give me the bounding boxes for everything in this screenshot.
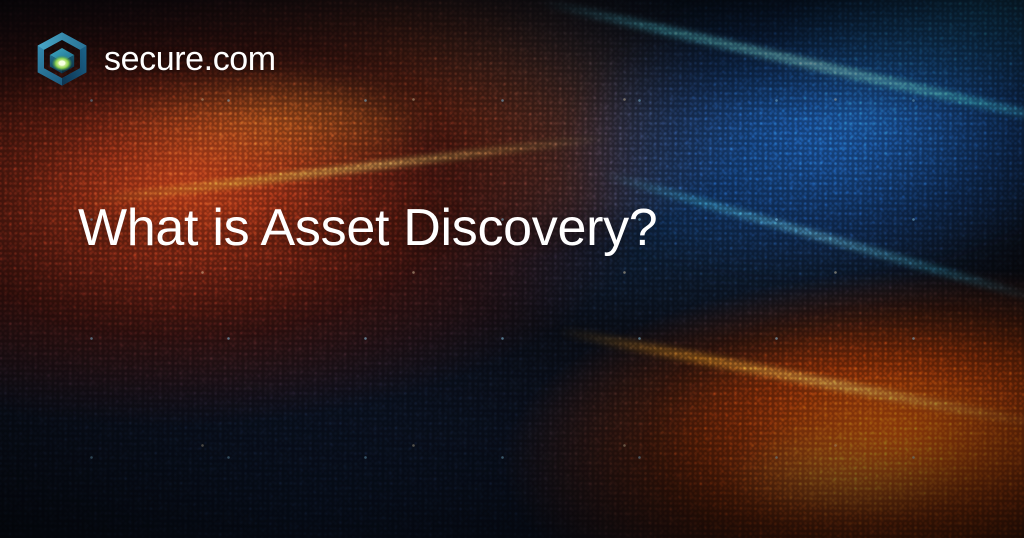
brand-name: secure.com	[104, 42, 276, 76]
brand-lockup[interactable]: secure.com	[33, 30, 276, 88]
hexagon-cube-logo-icon	[33, 30, 91, 88]
logo-cube-core	[59, 60, 66, 65]
logo-hexagon-top-bevel	[38, 32, 87, 49]
hero-banner: secure.com What is Asset Discovery?	[0, 0, 1024, 538]
page-title: What is Asset Discovery?	[78, 200, 657, 256]
